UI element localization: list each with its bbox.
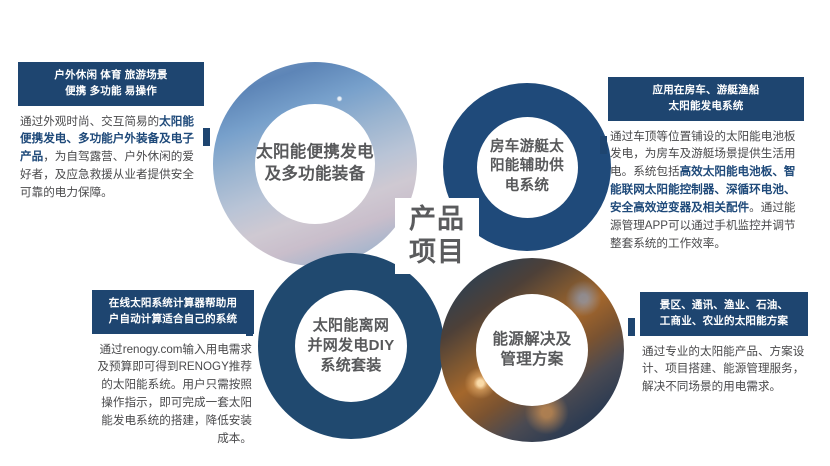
info-block-top-right: 应用在房车、游艇渔船 太阳能发电系统 通过车顶等位置铺设的太阳能电池板发电，为房… xyxy=(608,77,804,253)
info-body-bottom-left: 通过renogy.com输入用电需求及预算即可得到RENOGY推荐的太阳能系统。… xyxy=(92,334,254,449)
connector-tick-top-left xyxy=(203,128,210,146)
connector-tick-bottom-right xyxy=(628,318,635,336)
ring-hole-4: 能源解决及 管理方案 xyxy=(476,294,588,406)
center-title-plaque: 产品 项目 xyxy=(395,198,479,274)
body-text: 通过renogy.com输入用电需求及预算即可得到RENOGY推荐的太阳能系统。… xyxy=(97,343,252,446)
ring-solar-portable[interactable]: 太阳能便携发电 及多功能装备 xyxy=(213,62,417,266)
ring-hole-3: 太阳能离网 并网发电DIY 系统套装 xyxy=(295,290,407,402)
info-heading-top-right: 应用在房车、游艇渔船 太阳能发电系统 xyxy=(608,77,804,121)
info-block-bottom-right: 景区、通讯、渔业、石油、 工商业、农业的太阳能方案 通过专业的太阳能产品、方案设… xyxy=(640,292,808,396)
center-title-line2: 项目 xyxy=(409,236,465,269)
info-body-bottom-right: 通过专业的太阳能产品、方案设计、项目搭建、能源管理服务，解决不同场景的用电需求。 xyxy=(640,336,808,397)
info-heading-top-left: 户外休闲 体育 旅游场景 便携 多功能 易操作 xyxy=(18,62,204,106)
info-heading-bottom-right: 景区、通讯、渔业、石油、 工商业、农业的太阳能方案 xyxy=(640,292,808,336)
body-text: 通过外观时尚、交互简易的 xyxy=(20,115,159,128)
info-heading-bottom-left: 在线太阳系统计算器帮助用 户自动计算适合自己的系统 xyxy=(92,290,254,334)
ring-offgrid-diy[interactable]: 太阳能离网 并网发电DIY 系统套装 xyxy=(258,253,444,439)
body-text: 通过专业的太阳能产品、方案设计、项目搭建、能源管理服务，解决不同场景的用电需求。 xyxy=(642,345,804,394)
info-block-bottom-left: 在线太阳系统计算器帮助用 户自动计算适合自己的系统 通过renogy.com输入… xyxy=(92,290,254,448)
info-body-top-left: 通过外观时尚、交互简易的太阳能便携发电、多功能户外装备及电子产品，为自驾露营、户… xyxy=(18,106,204,203)
ring-label-2: 房车游艇太 阳能辅助供 电系统 xyxy=(490,138,564,195)
info-block-top-left: 户外休闲 体育 旅游场景 便携 多功能 易操作 通过外观时尚、交互简易的太阳能便… xyxy=(18,62,204,202)
ring-label-1: 太阳能便携发电 及多功能装备 xyxy=(256,142,374,186)
connector-tick-top-right xyxy=(600,136,607,154)
ring-hole-1: 太阳能便携发电 及多功能装备 xyxy=(255,104,375,224)
ring-hole-2: 房车游艇太 阳能辅助供 电系统 xyxy=(477,117,578,218)
ring-label-3: 太阳能离网 并网发电DIY 系统套装 xyxy=(307,316,394,375)
ring-label-4: 能源解决及 管理方案 xyxy=(492,330,571,371)
ring-energy-solution[interactable]: 能源解决及 管理方案 xyxy=(440,258,624,442)
center-title-line1: 产品 xyxy=(409,203,465,236)
info-body-top-right: 通过车顶等位置铺设的太阳能电池板发电，为房车及游艇场景提供生活用电。系统包括高效… xyxy=(608,121,804,254)
body-text: ，为自驾露营、户外休闲的爱好者，及应急救援从业者提供安全可靠的电力保障。 xyxy=(20,150,194,199)
infographic-canvas: 太阳能便携发电 及多功能装备 房车游艇太 阳能辅助供 电系统 太阳能离网 并网发… xyxy=(0,0,830,466)
